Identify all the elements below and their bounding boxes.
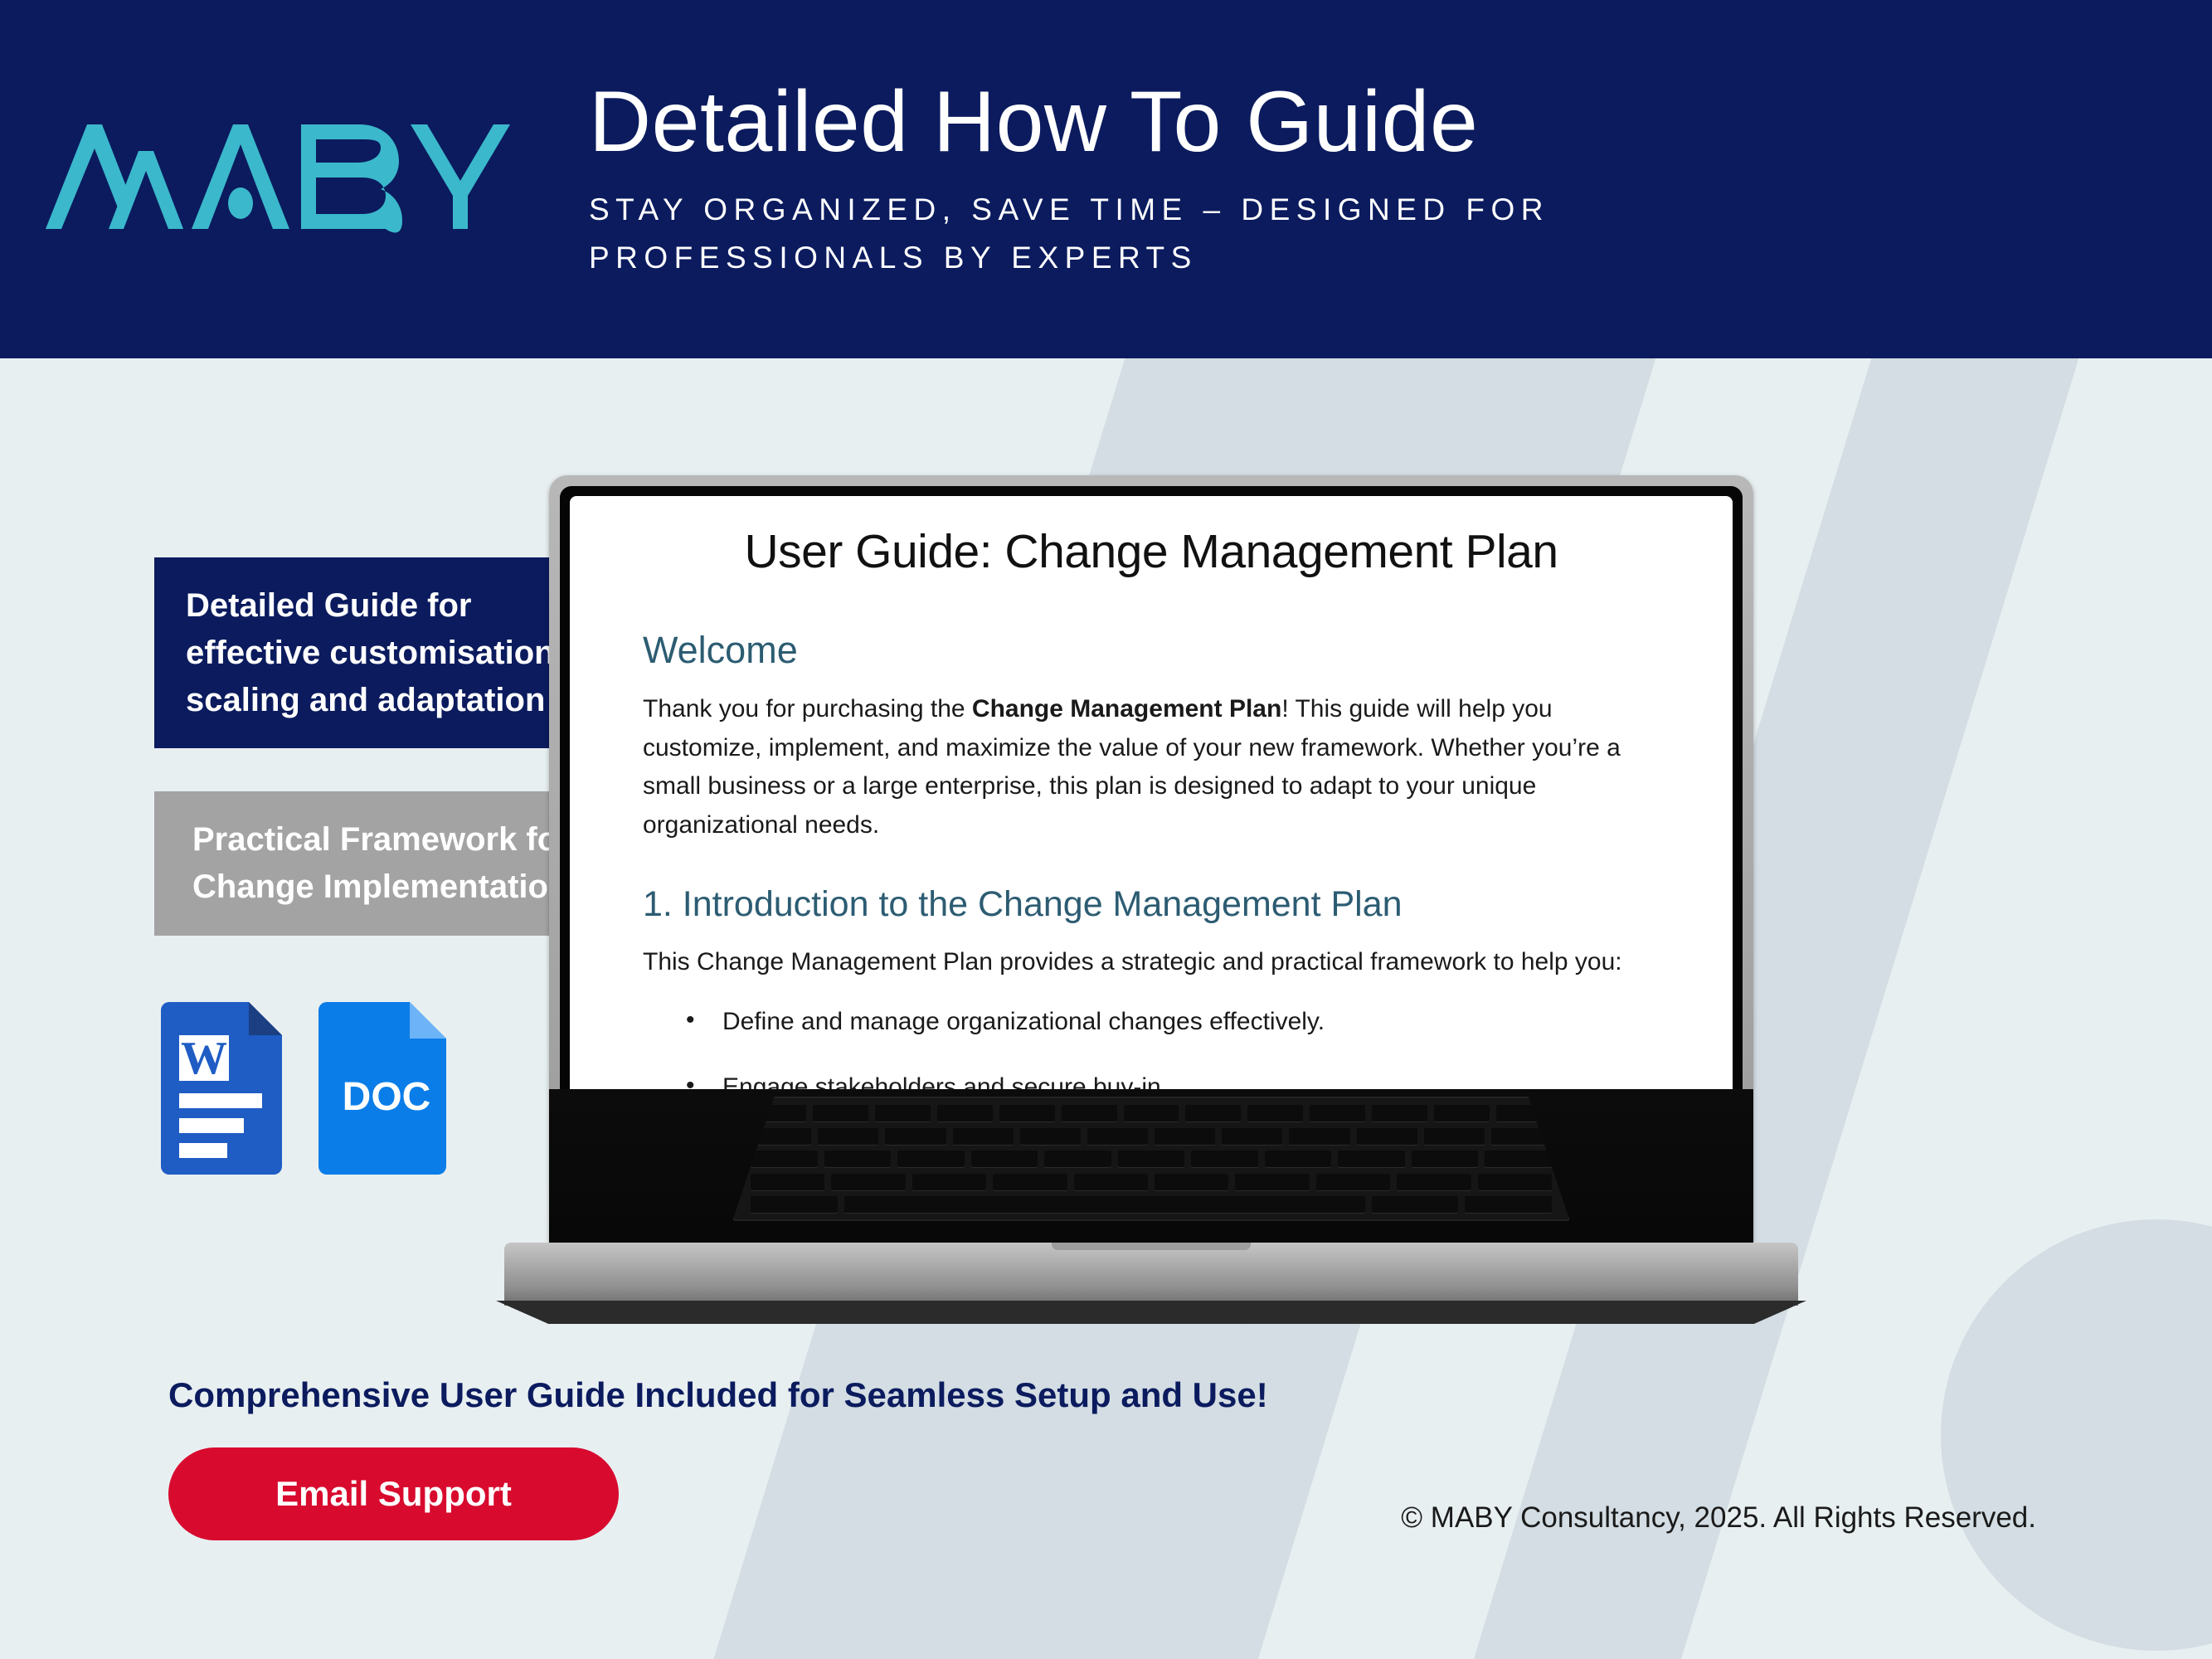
decorative-circle [1941,1219,2212,1651]
cta-tagline: Comprehensive User Guide Included for Se… [168,1375,1268,1415]
section-1-heading: 1. Introduction to the Change Management… [643,884,1660,925]
copyright-notice: © MABY Consultancy, 2025. All Rights Res… [1401,1501,2036,1535]
list-item: Define and manage organizational changes… [643,1004,1660,1040]
header-text-block: Detailed How To Guide STAY ORGANIZED, SA… [581,77,1750,281]
word-doc-icon[interactable]: W [154,1002,289,1175]
doc-file-icon[interactable]: DOC [315,1002,450,1175]
page-header: Detailed How To Guide STAY ORGANIZED, SA… [0,0,2212,358]
email-support-button[interactable]: Email Support [168,1447,619,1540]
laptop-mockup: User Guide: Change Management Plan Welco… [504,475,1798,1306]
maby-logo [0,0,581,358]
poster-page: Detailed How To Guide STAY ORGANIZED, SA… [0,0,2212,1659]
svg-text:W: W [181,1033,227,1084]
laptop-lid: User Guide: Change Management Plan Welco… [549,475,1753,1243]
welcome-heading: Welcome [643,629,1660,672]
laptop-keyboard [732,1097,1570,1221]
doc-file-label: DOC [343,1075,431,1119]
laptop-base [504,1243,1798,1306]
laptop-base-notch [1052,1243,1251,1250]
laptop-keyboard-deck [549,1089,1753,1243]
page-title: Detailed How To Guide [589,77,1750,168]
welcome-paragraph: Thank you for purchasing the Change Mana… [643,690,1660,844]
maby-logo-icon [37,121,543,237]
welcome-pre-text: Thank you for purchasing the [643,695,972,722]
welcome-bold-text: Change Management Plan [972,695,1281,722]
page-subtitle: STAY ORGANIZED, SAVE TIME – DESIGNED FOR… [589,186,1750,281]
document-title: User Guide: Change Management Plan [643,524,1660,579]
section-1-intro: This Change Management Plan provides a s… [643,943,1660,982]
